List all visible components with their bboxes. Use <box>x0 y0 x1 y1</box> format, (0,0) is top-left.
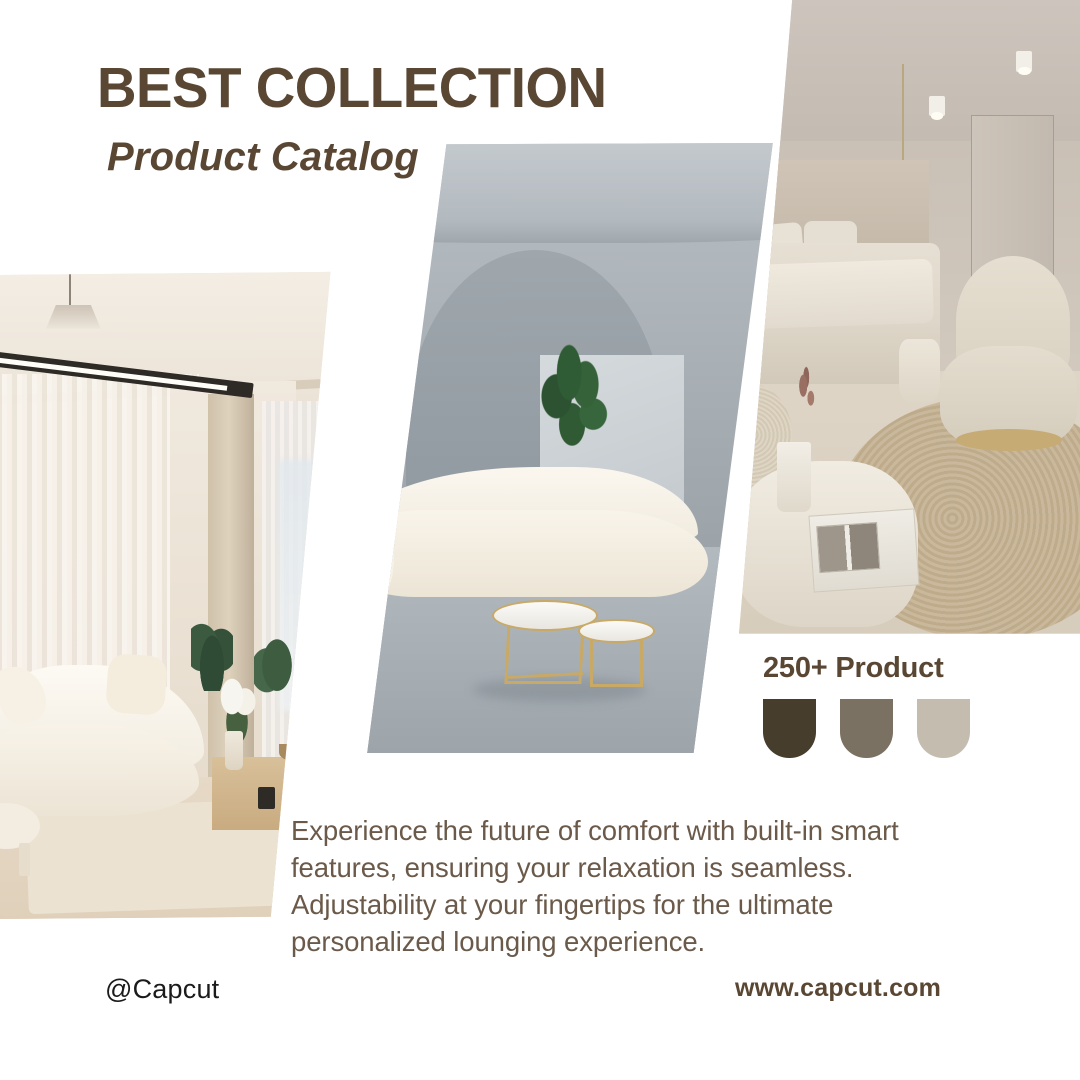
description-paragraph: Experience the future of comfort with bu… <box>291 812 959 960</box>
bedroom-photo <box>720 0 1080 640</box>
headline-block: BEST COLLECTION Product Catalog <box>97 60 628 177</box>
color-swatch-medium-taupe[interactable] <box>840 699 893 758</box>
color-swatch-list <box>763 699 970 758</box>
website-url[interactable]: www.capcut.com <box>735 974 941 1003</box>
page-title: BEST COLLECTION <box>97 60 607 117</box>
product-count-label: 250+ Product <box>763 652 970 685</box>
color-swatch-dark-olive-brown[interactable] <box>763 699 816 758</box>
page-subtitle: Product Catalog <box>107 137 628 177</box>
bedroom-art <box>720 0 1080 640</box>
studio-sofa-photo <box>300 138 780 758</box>
product-count-block: 250+ Product <box>763 652 970 758</box>
poster-canvas: BEST COLLECTION Product Catalog 250+ Pro… <box>0 0 1080 1080</box>
color-swatch-light-greige[interactable] <box>917 699 970 758</box>
social-handle: @Capcut <box>105 974 219 1005</box>
studio-sofa-art <box>300 138 780 758</box>
